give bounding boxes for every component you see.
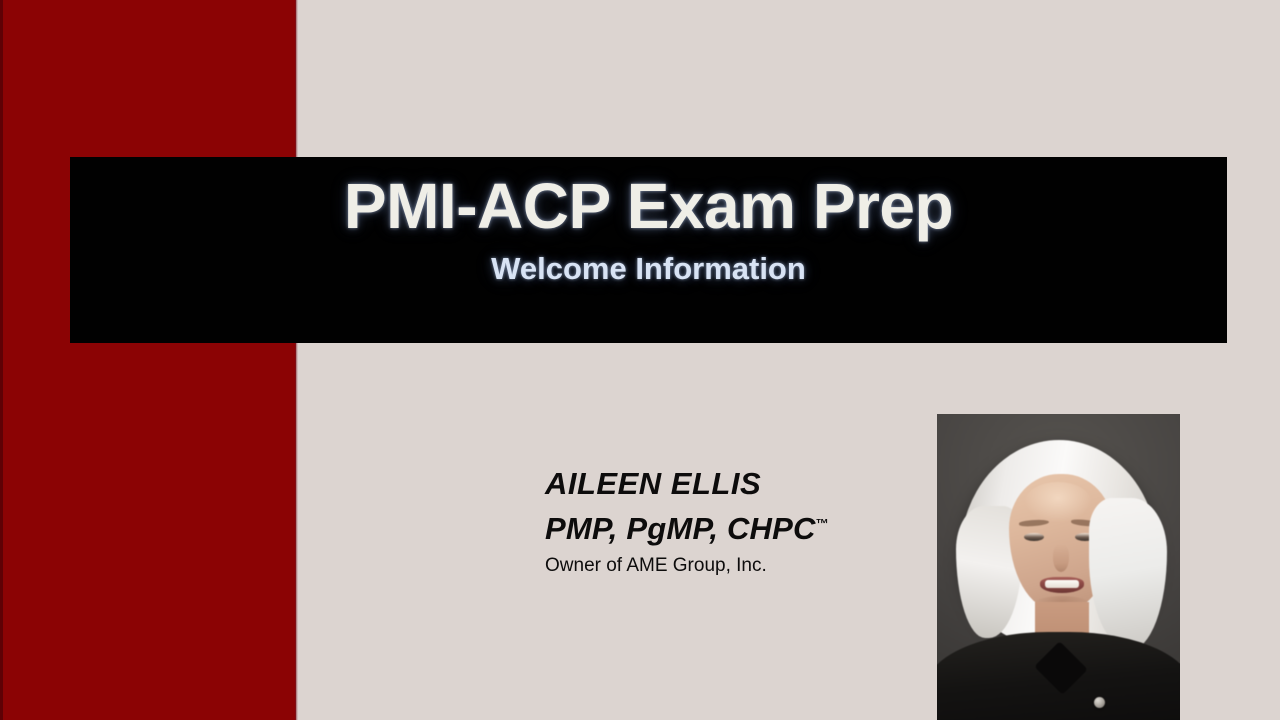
trademark-symbol: ™: [816, 516, 829, 531]
title-banner: PMI-ACP Exam Prep Welcome Information: [70, 157, 1227, 343]
portrait-forehead-highlight: [1025, 482, 1091, 522]
portrait-mouth: [1040, 577, 1084, 593]
presenter-portrait-photo: [937, 414, 1180, 720]
presenter-credentials: PMP, PgMP, CHPC™: [545, 513, 925, 544]
portrait-nose: [1053, 544, 1069, 572]
portrait-garment-button: [1094, 697, 1105, 708]
portrait-backdrop: [937, 414, 1180, 720]
presentation-slide: PMI-ACP Exam Prep Welcome Information AI…: [0, 0, 1280, 720]
portrait-eye-left: [1024, 533, 1044, 541]
left-accent-band: [0, 0, 296, 720]
presenter-info: AILEEN ELLIS PMP, PgMP, CHPC™ Owner of A…: [545, 468, 925, 577]
portrait-teeth: [1045, 580, 1079, 588]
presenter-credentials-text: PMP, PgMP, CHPC: [545, 511, 816, 546]
slide-title: PMI-ACP Exam Prep: [344, 173, 953, 240]
slide-subtitle: Welcome Information: [491, 252, 806, 286]
presenter-name: AILEEN ELLIS: [545, 468, 925, 499]
presenter-role: Owner of AME Group, Inc.: [545, 556, 925, 577]
